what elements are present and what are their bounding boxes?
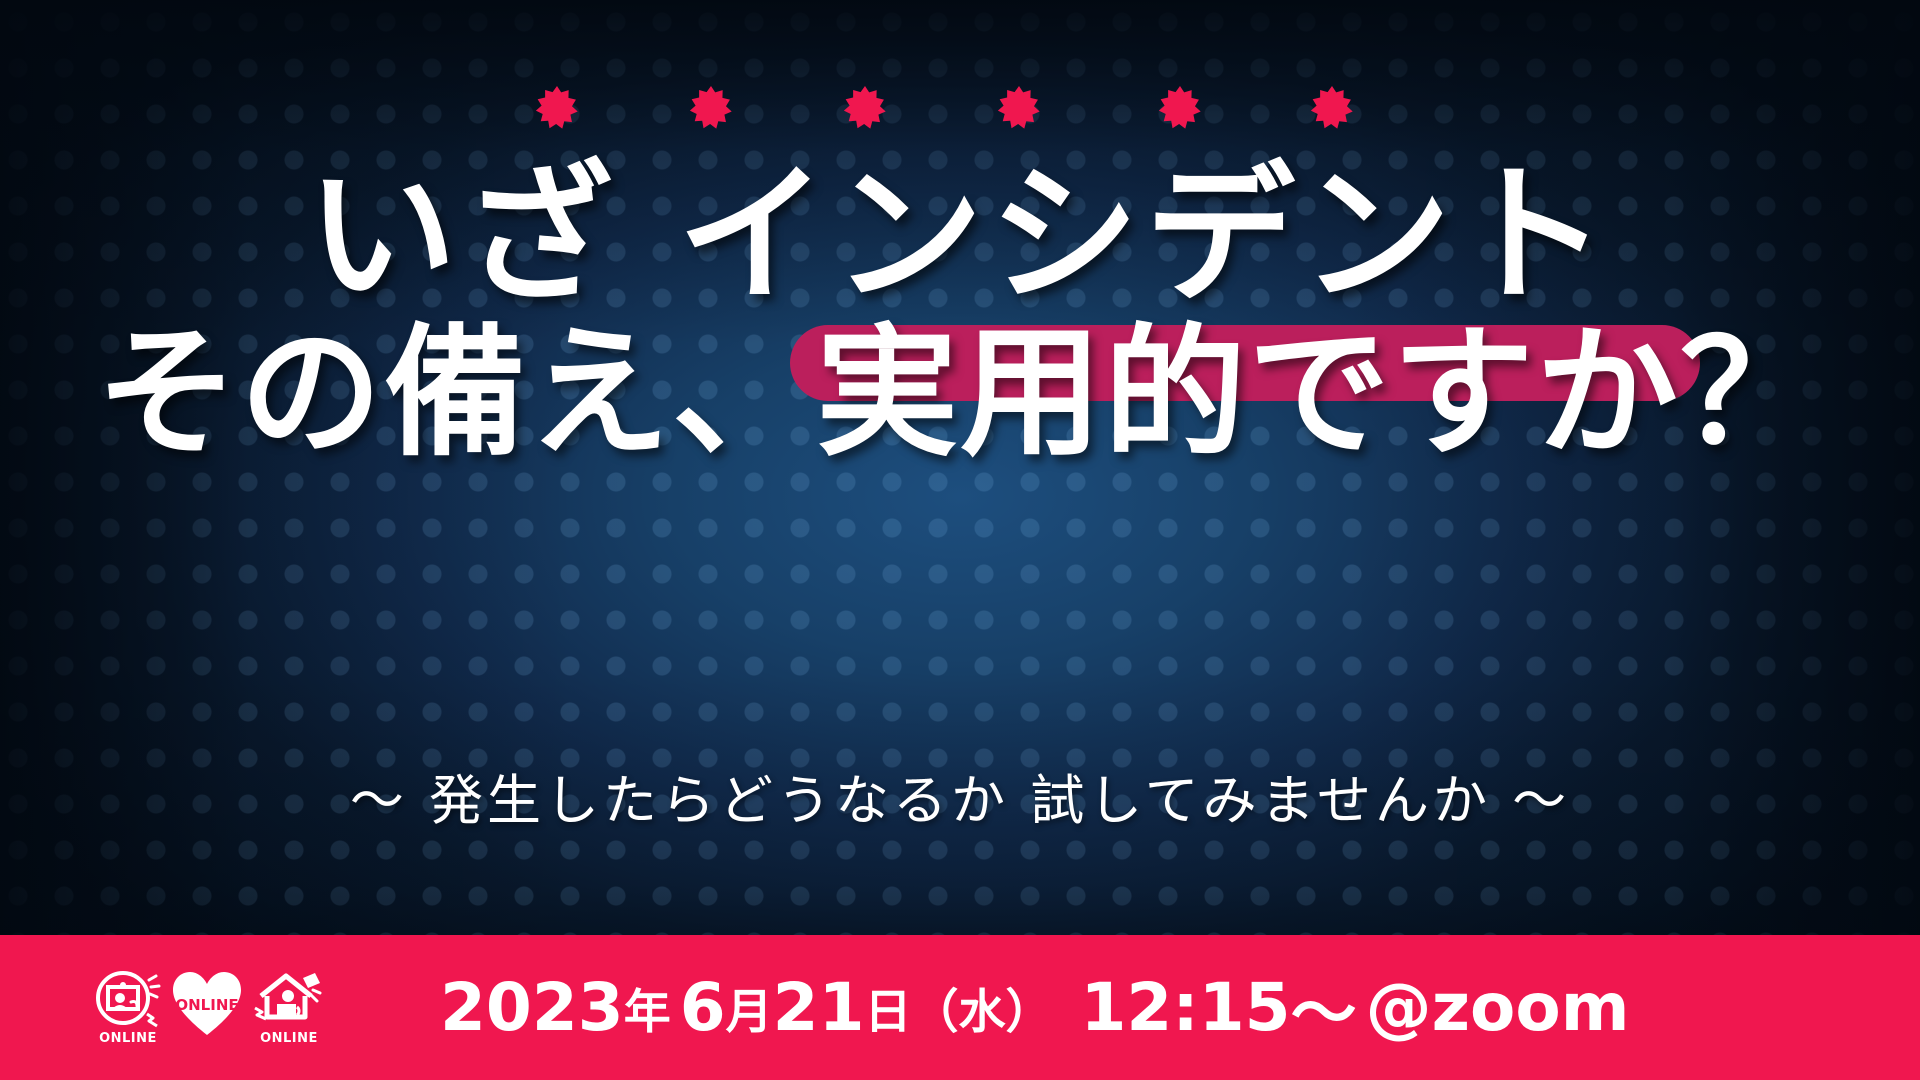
sparkle-star-icon bbox=[1310, 86, 1354, 130]
sparkle-star-icon bbox=[1158, 86, 1202, 130]
footer-year-value: 2023 bbox=[440, 969, 624, 1046]
sparkle-star-icon bbox=[997, 86, 1041, 130]
online-heart-icon: ONLINE bbox=[169, 969, 245, 1039]
footer-day-value: 21 bbox=[773, 969, 865, 1046]
title-line-1: いざ インシデント bbox=[0, 160, 1920, 313]
online-home-icon: ONLINE bbox=[253, 970, 325, 1046]
footer-month-unit: 月 bbox=[726, 973, 773, 1042]
footer-day-unit: 日 bbox=[865, 973, 912, 1042]
star-decoration-row bbox=[0, 86, 1920, 146]
footer-weekday: （水） bbox=[912, 973, 1053, 1042]
sparkle-star-icon bbox=[689, 86, 733, 130]
online-meeting-icon-caption: ONLINE bbox=[99, 1031, 157, 1046]
title-block: いざ インシデント その備え、実用的ですか？ bbox=[0, 160, 1920, 523]
title-line-2-wrapper: その備え、実用的ですか？ bbox=[0, 323, 1920, 523]
online-meeting-icon: ONLINE bbox=[95, 970, 161, 1046]
footer-datetime: 2023 年 6 月 21 日 （水） 12:15 〜 @zoom bbox=[420, 960, 1920, 1056]
svg-text:ONLINE: ONLINE bbox=[175, 996, 238, 1014]
footer-platform: @zoom bbox=[1366, 969, 1630, 1046]
sparkle-star-icon bbox=[535, 86, 579, 130]
subtitle: 〜 発生したらどうなるか 試してみませんか 〜 bbox=[0, 756, 1920, 835]
footer-time-value: 12:15 bbox=[1081, 969, 1291, 1046]
footer-month-value: 6 bbox=[680, 969, 726, 1046]
event-banner: いざ インシデント その備え、実用的ですか？ 〜 発生したらどうなるか 試してみ… bbox=[0, 0, 1920, 1080]
sparkle-star-icon bbox=[843, 86, 887, 130]
online-home-icon-caption: ONLINE bbox=[260, 1031, 318, 1046]
footer-icon-group: ONLINE ONLINE bbox=[0, 935, 420, 1080]
footer-year-unit: 年 bbox=[624, 973, 671, 1042]
footer-bar: ONLINE ONLINE bbox=[0, 935, 1920, 1080]
footer-time-suffix: 〜 bbox=[1291, 960, 1357, 1056]
title-line-2: その備え、実用的ですか？ bbox=[0, 323, 1920, 465]
